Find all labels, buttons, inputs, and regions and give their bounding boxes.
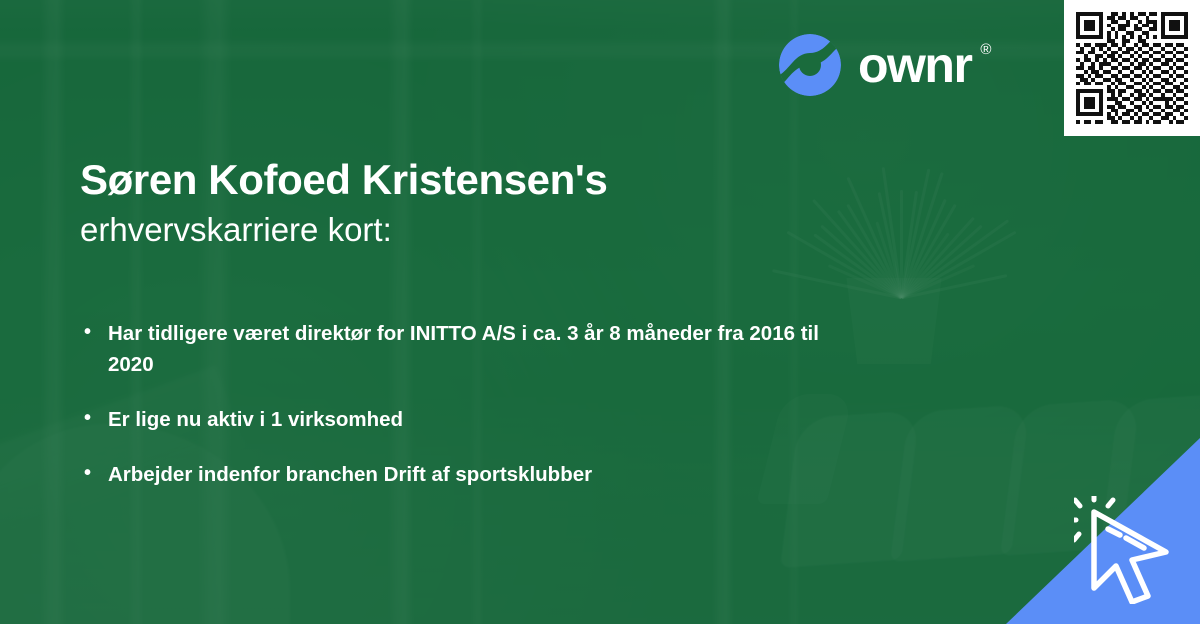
career-fact-item: Har tidligere været direktør for INITTO …	[84, 318, 844, 380]
ownr-logo[interactable]: ownr ®	[778, 33, 991, 97]
headline-line-1: Søren Kofoed Kristensen's	[80, 155, 607, 205]
green-color-overlay	[0, 0, 1200, 624]
career-facts-list: Har tidligere været direktør for INITTO …	[84, 318, 844, 515]
career-card-banner: ownr ® Søren Kofoed Kristensen's erhverv…	[0, 0, 1200, 624]
headline-line-2: erhvervskarriere kort:	[80, 209, 607, 250]
qr-code[interactable]	[1076, 12, 1188, 124]
office-photo-background	[0, 0, 1200, 624]
career-fact-item: Arbejder indenfor branchen Drift af spor…	[84, 459, 844, 490]
page-title: Søren Kofoed Kristensen's erhvervskarrie…	[80, 155, 607, 250]
ownr-circle-logo-icon	[778, 33, 842, 97]
registered-trademark-symbol: ®	[980, 42, 991, 57]
ownr-wordmark: ownr ®	[858, 40, 991, 90]
qr-code-panel[interactable]	[1064, 0, 1200, 136]
ownr-wordmark-text: ownr	[858, 37, 971, 93]
career-fact-item: Er lige nu aktiv i 1 virksomhed	[84, 404, 844, 435]
